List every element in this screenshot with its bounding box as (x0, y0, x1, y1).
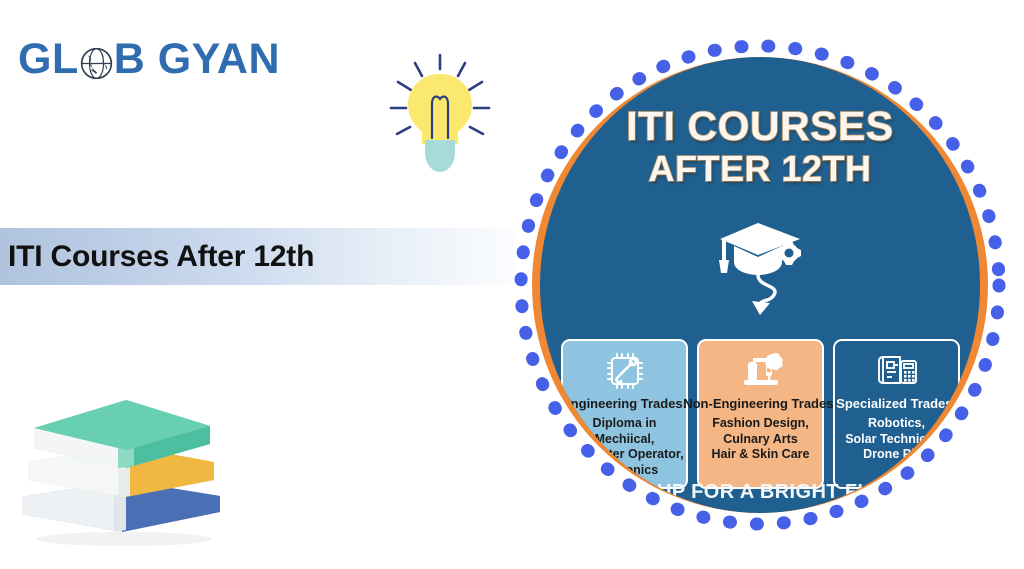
card-engineering-trades[interactable]: Engineering Trades: Diploma in Mechiical… (561, 339, 688, 489)
card-line: Diploma in (593, 416, 657, 432)
card-line: Solar Technician, (845, 432, 948, 448)
card-line: Fashion Design, (712, 416, 809, 432)
headline-line-2: AFTER 12TH (540, 148, 980, 189)
logo-text-prefix: GL (18, 38, 79, 81)
lightbulb-icon (385, 52, 495, 177)
card-title: Engineering Trades: (562, 397, 687, 412)
card-line: Robotics, (868, 416, 925, 432)
page-root: GL B GYAN (0, 0, 1024, 569)
card-line: Hair & Skin Care (712, 447, 810, 463)
graduation-cap-gear-icon (710, 209, 810, 319)
card-line: Drone Pilot (863, 447, 930, 463)
infographic-headline: ITI COURSES AFTER 12TH (540, 105, 980, 189)
blue-circle-body: ITI COURSES AFTER 12TH (540, 57, 980, 513)
stacked-books-icon (14, 392, 229, 547)
sewing-machine-icon (737, 350, 783, 390)
site-logo[interactable]: GL B GYAN (18, 38, 280, 81)
headline-line-1: ITI COURSES (540, 105, 980, 148)
card-line: Electronics (591, 463, 658, 479)
page-title-band: ITI Courses After 12th (0, 228, 514, 285)
microchip-wrench-icon (601, 350, 647, 390)
card-line: Computer Operator, (565, 447, 683, 463)
trade-cards-row: Engineering Trades: Diploma in Mechiical… (561, 339, 961, 489)
logo-text-suffix: B GYAN (114, 38, 280, 81)
card-title: Specialized Trades: (836, 397, 957, 412)
card-line: Mechiical, (595, 432, 655, 448)
globe-icon (80, 47, 113, 80)
infographic-tagline: SKILL UP FOR A BRIGHT FUTURE (540, 481, 980, 504)
iti-courses-infographic: ITI COURSES AFTER 12TH (510, 35, 1010, 535)
card-specialized-trades[interactable]: Specialized Trades: Robotics, Solar Tech… (833, 339, 960, 489)
page-title: ITI Courses After 12th (0, 240, 314, 274)
blueprint-calculator-icon (874, 350, 920, 390)
card-non-engineering-trades[interactable]: Non-Engineering Trades: Fashion Design, … (697, 339, 824, 489)
card-line: Culnary Arts (723, 432, 798, 448)
card-title: Non-Engineering Trades: (683, 397, 838, 412)
tagline-text: SKILL UP FOR A BRIGHT FUTURE (592, 481, 929, 503)
